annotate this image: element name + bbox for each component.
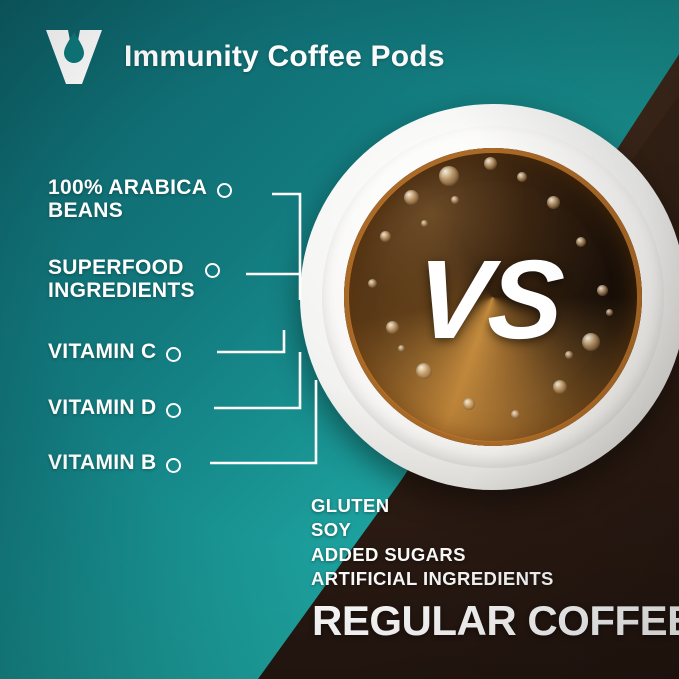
callout-dot-icon [166, 347, 181, 362]
benefit-label: 100% ARABICA BEANS [48, 177, 207, 222]
benefit-label: VITAMIN D [48, 397, 156, 420]
foam-bubble [484, 157, 497, 170]
callout-dot-icon [166, 458, 181, 473]
negative-item: SOY [311, 518, 554, 542]
foam-bubble [368, 279, 377, 288]
negatives-list: GLUTEN SOY ADDED SUGARS ARTIFICIAL INGRE… [311, 494, 554, 592]
negative-item: ARTIFICIAL INGREDIENTS [311, 567, 554, 591]
benefit-item: 100% ARABICA BEANS [48, 177, 232, 222]
callout-dot-icon [166, 403, 181, 418]
negative-item: GLUTEN [311, 494, 554, 518]
product-comparison-graphic: Immunity Coffee Pods 100% ARABICA BEANS … [0, 0, 679, 679]
callout-dot-icon [217, 183, 232, 198]
foam-bubble [398, 345, 405, 352]
benefit-item: SUPERFOOD INGREDIENTS [48, 257, 220, 302]
benefit-item: VITAMIN D [48, 397, 181, 420]
header: Immunity Coffee Pods [42, 26, 445, 88]
foam-bubble [404, 190, 419, 205]
v-droplet-logo [42, 26, 106, 88]
regular-coffee-title: REGULAR COFFEE [312, 600, 679, 642]
foam-bubble [553, 380, 567, 394]
foam-bubble [451, 196, 459, 204]
benefit-label: VITAMIN C [48, 341, 156, 364]
foam-bubble [547, 196, 560, 209]
benefit-item: VITAMIN B [48, 452, 181, 475]
vs-label: VS [412, 244, 565, 356]
foam-bubble [386, 321, 399, 334]
benefit-label: VITAMIN B [48, 452, 156, 475]
foam-bubble [416, 363, 432, 379]
negative-item: ADDED SUGARS [311, 543, 554, 567]
callout-dot-icon [205, 263, 220, 278]
benefit-label: SUPERFOOD INGREDIENTS [48, 257, 195, 302]
foam-bubble [517, 172, 527, 182]
page-title: Immunity Coffee Pods [124, 40, 445, 74]
benefit-item: VITAMIN C [48, 341, 181, 364]
foam-bubble [565, 351, 573, 359]
